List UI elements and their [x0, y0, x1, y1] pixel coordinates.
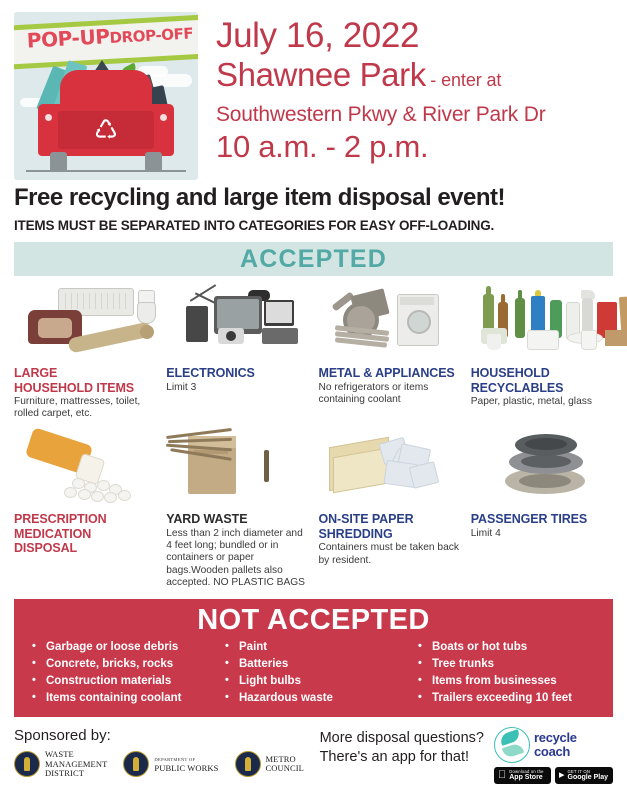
sponsor-waste-management-district: WASTE MANAGEMENT DISTRICT: [14, 750, 107, 779]
ground-line: [26, 170, 186, 172]
footer: Sponsored by: WASTE MANAGEMENT DISTRICT …: [0, 717, 627, 784]
list-item: Boats or hot tubs: [410, 639, 603, 656]
event-tagline: Free recycling and large item disposal e…: [0, 184, 627, 212]
app-store-badge[interactable]:  Download on the App Store: [494, 767, 551, 784]
flyer-page: POP-UPDROP-OFF ♺: [0, 0, 627, 812]
list-item: Hazardous waste: [217, 690, 410, 707]
accepted-item-paper-shredding: ON-SITE PAPER SHREDDING Containers must …: [315, 430, 465, 589]
list-item: Garbage or loose debris: [24, 639, 217, 656]
accepted-section-banner: ACCEPTED: [14, 242, 613, 276]
paper-shredding-image: [319, 430, 461, 508]
accepted-item-desc: No refrigerators or items containing coo…: [319, 382, 461, 406]
sponsored-by-label: Sponsored by:: [14, 727, 304, 744]
accepted-item-desc: Containers must be taken back by residen…: [319, 542, 461, 566]
accepted-item-desc: Paper, plastic, metal, glass: [471, 396, 613, 408]
truck-wheel-icon: [145, 152, 162, 172]
banner-dropoff-text: DROP-OFF: [109, 24, 194, 47]
event-details: July 16, 2022 Shawnee Park - enter at So…: [198, 12, 619, 166]
passenger-tires-image: [471, 430, 613, 508]
google-play-badge[interactable]: ▸ GET IT ON Google Play: [555, 767, 613, 784]
prescription-medication-image: [14, 430, 156, 508]
sponsor-name: METRO COUNCIL: [266, 755, 304, 774]
truck-light-icon: [45, 114, 52, 121]
event-subtagline: ITEMS MUST BE SEPARATED INTO CATEGORIES …: [0, 218, 627, 233]
accepted-item-title: PRESCRIPTION MEDICATION DISPOSAL: [14, 512, 156, 556]
not-accepted-column-2: Paint Batteries Light bulbs Hazardous wa…: [217, 639, 410, 707]
metal-appliances-image: [319, 284, 461, 362]
sponsor-name: DEPARTMENT OF PUBLIC WORKS: [154, 755, 218, 774]
seal-icon: [235, 751, 261, 777]
sponsor-logos: WASTE MANAGEMENT DISTRICT DEPARTMENT OF …: [14, 750, 304, 779]
accepted-item-electronics: ELECTRONICS Limit 3: [162, 284, 312, 420]
list-item: Concrete, bricks, rocks: [24, 656, 217, 673]
not-accepted-section: NOT ACCEPTED Garbage or loose debris Con…: [14, 599, 613, 717]
accepted-item-title: HOUSEHOLD RECYCLABLES: [471, 366, 613, 395]
list-item: Items from businesses: [410, 673, 603, 690]
sponsors-block: Sponsored by: WASTE MANAGEMENT DISTRICT …: [14, 727, 304, 779]
seal-icon: [123, 751, 149, 777]
banner-popup-text: POP-UP: [26, 24, 110, 53]
accepted-item-title: ON-SITE PAPER SHREDDING: [319, 512, 461, 541]
event-location-line: Shawnee Park - enter at: [216, 56, 619, 101]
accepted-item-title: LARGE HOUSEHOLD ITEMS: [14, 366, 156, 395]
not-accepted-columns: Garbage or loose debris Concrete, bricks…: [14, 637, 613, 707]
event-location: Shawnee Park: [216, 56, 426, 93]
truck-wheel-icon: [50, 152, 67, 172]
seal-icon: [14, 751, 40, 777]
recycle-coach-wordmark: recycle coach: [534, 731, 577, 758]
list-item: Trailers exceeding 10 feet: [410, 690, 603, 707]
accepted-item-desc: Less than 2 inch diameter and 4 feet lon…: [166, 528, 308, 589]
accepted-item-metal-appliances: METAL & APPLIANCES No refrigerators or i…: [315, 284, 465, 420]
app-promo: More disposal questions? There's an app …: [320, 727, 613, 784]
accepted-item-desc: Limit 4: [471, 528, 613, 540]
accepted-item-title: METAL & APPLIANCES: [319, 366, 461, 381]
electronics-image: [166, 284, 308, 362]
popup-dropoff-illustration: POP-UPDROP-OFF ♺: [14, 12, 198, 180]
play-triangle-icon: ▸: [559, 770, 565, 781]
header: POP-UPDROP-OFF ♺: [0, 0, 627, 182]
accepted-items-row-1: LARGE HOUSEHOLD ITEMS Furniture, mattres…: [0, 284, 627, 420]
event-date: July 16, 2022: [216, 16, 619, 56]
list-item: Items containing coolant: [24, 690, 217, 707]
not-accepted-column-3: Boats or hot tubs Tree trunks Items from…: [410, 639, 603, 707]
recycle-symbol-icon: ♺: [58, 112, 154, 148]
list-item: Batteries: [217, 656, 410, 673]
recycle-coach-block[interactable]: recycle coach  Download on the App Stor…: [494, 727, 613, 784]
accepted-item-yard-waste: YARD WASTE Less than 2 inch diameter and…: [162, 430, 312, 589]
accepted-item-title: ELECTRONICS: [166, 366, 308, 381]
sponsor-metro-council: METRO COUNCIL: [235, 751, 304, 777]
sponsor-public-works: DEPARTMENT OF PUBLIC WORKS: [123, 751, 218, 777]
app-promo-text: More disposal questions? There's an app …: [320, 727, 484, 767]
event-cross-streets: Southwestern Pkwy & River Park Dr: [216, 101, 619, 128]
accepted-item-title: YARD WASTE: [166, 512, 308, 527]
list-item: Construction materials: [24, 673, 217, 690]
accepted-item-prescription-medication: PRESCRIPTION MEDICATION DISPOSAL: [10, 430, 160, 589]
event-entrance-note: - enter at: [430, 70, 501, 90]
event-time: 10 a.m. - 2 p.m.: [216, 128, 619, 166]
not-accepted-column-1: Garbage or loose debris Concrete, bricks…: [24, 639, 217, 707]
recycle-coach-icon: [494, 727, 530, 763]
accepted-item-passenger-tires: PASSENGER TIRES Limit 4: [467, 430, 617, 589]
yard-waste-image: [166, 430, 308, 508]
sponsor-name: WASTE MANAGEMENT DISTRICT: [45, 750, 107, 779]
list-item: Paint: [217, 639, 410, 656]
list-item: Tree trunks: [410, 656, 603, 673]
large-household-items-image: [14, 284, 156, 362]
accepted-item-title: PASSENGER TIRES: [471, 512, 613, 527]
truck-light-icon: [160, 114, 167, 121]
accepted-items-row-2: PRESCRIPTION MEDICATION DISPOSAL YARD WA…: [0, 430, 627, 589]
recycle-coach-logo: recycle coach: [494, 727, 613, 763]
accepted-item-household-recyclables: HOUSEHOLD RECYCLABLES Paper, plastic, me…: [467, 284, 617, 420]
accepted-item-desc: Limit 3: [166, 382, 308, 394]
not-accepted-title: NOT ACCEPTED: [14, 603, 613, 637]
apple-icon: : [498, 770, 506, 781]
accepted-item-desc: Furniture, mattresses, toilet, rolled ca…: [14, 396, 156, 420]
accepted-item-large-household: LARGE HOUSEHOLD ITEMS Furniture, mattres…: [10, 284, 160, 420]
household-recyclables-image: [471, 284, 613, 362]
accepted-label: ACCEPTED: [240, 245, 387, 274]
app-store-badges:  Download on the App Store ▸ GET IT ON …: [494, 767, 613, 784]
list-item: Light bulbs: [217, 673, 410, 690]
